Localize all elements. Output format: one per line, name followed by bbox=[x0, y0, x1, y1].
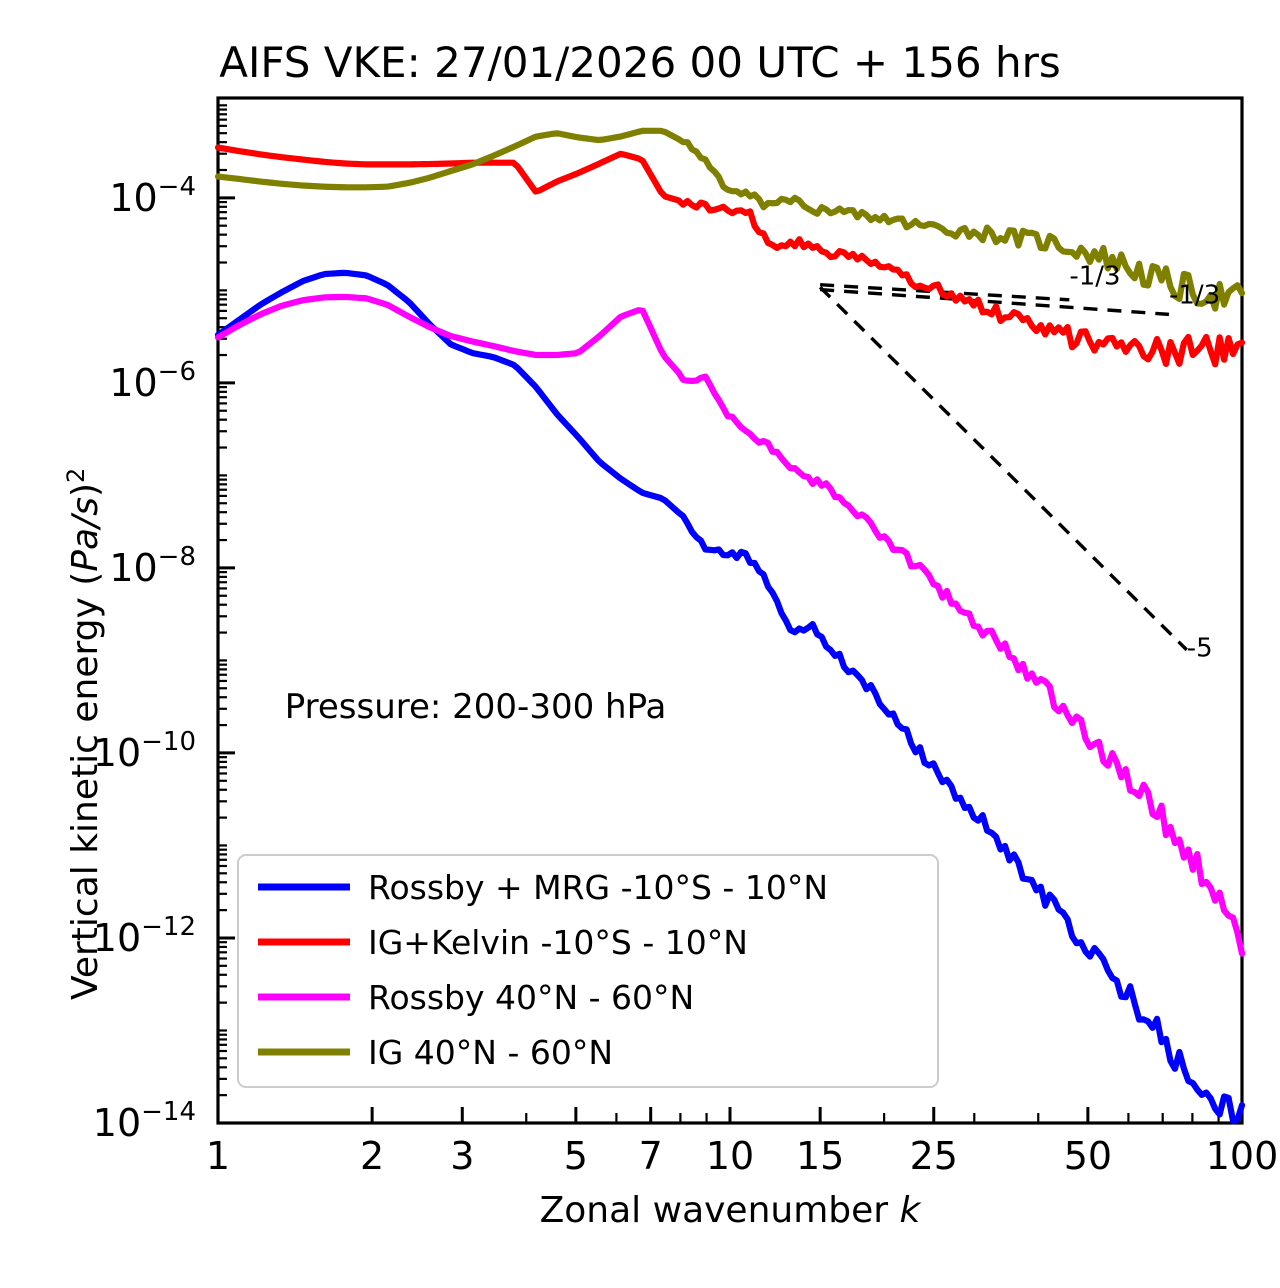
y-tick-label-1: 10−6 bbox=[109, 357, 196, 405]
legend-box[interactable]: Rossby + MRG -10°S - 10°NIG+Kelvin -10°S… bbox=[238, 855, 938, 1087]
y-tick-label-3: 10−10 bbox=[93, 727, 196, 775]
reference-line-group bbox=[820, 285, 1187, 650]
y-tick-group: 10−410−610−810−1010−1210−14 bbox=[93, 105, 235, 1145]
legend-label-2: Rossby 40°N - 60°N bbox=[368, 978, 694, 1017]
x-tick-label-7: 7 bbox=[639, 1134, 663, 1178]
x-tick-label-1: 1 bbox=[206, 1134, 230, 1178]
y-tick-label-0: 10−4 bbox=[109, 172, 196, 220]
y-tick-label-4: 10−12 bbox=[93, 912, 196, 960]
legend-label-1: IG+Kelvin -10°S - 10°N bbox=[368, 923, 748, 962]
figure-root: AIFS VKE: 27/01/2026 00 UTC + 156 hrs Ve… bbox=[0, 0, 1280, 1288]
plot-canvas: 1235710152550100 10−410−610−810−1010−121… bbox=[0, 0, 1280, 1288]
legend-label-0: Rossby + MRG -10°S - 10°N bbox=[368, 868, 828, 907]
x-tick-label-50: 50 bbox=[1064, 1134, 1112, 1178]
slope-label-upper: -1/3 bbox=[1069, 262, 1120, 292]
y-tick-label-2: 10−8 bbox=[109, 542, 196, 590]
pressure-note: Pressure: 200-300 hPa bbox=[285, 687, 667, 727]
x-tick-label-25: 25 bbox=[910, 1134, 958, 1178]
y-tick-label-5: 10−14 bbox=[93, 1097, 196, 1145]
x-tick-group: 1235710152550100 bbox=[206, 1107, 1278, 1178]
x-tick-label-10: 10 bbox=[706, 1134, 754, 1178]
slope-label-minus5: -5 bbox=[1187, 634, 1213, 664]
x-tick-label-15: 15 bbox=[796, 1134, 844, 1178]
legend-label-3: IG 40°N - 60°N bbox=[368, 1033, 613, 1072]
slope-label-lower: -1/3 bbox=[1169, 281, 1220, 311]
x-tick-label-5: 5 bbox=[564, 1134, 588, 1178]
x-tick-label-100: 100 bbox=[1206, 1134, 1279, 1178]
x-tick-label-3: 3 bbox=[450, 1134, 474, 1178]
x-tick-label-2: 2 bbox=[360, 1134, 384, 1178]
